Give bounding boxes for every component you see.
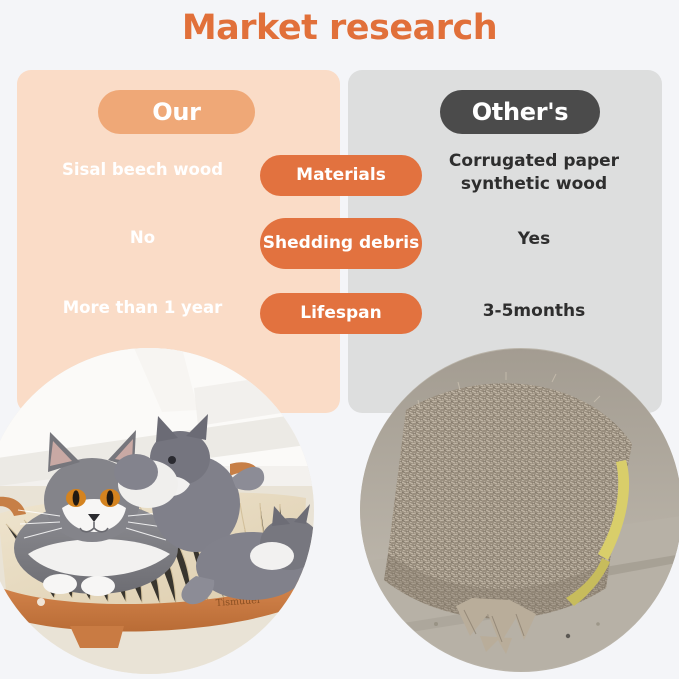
- infographic-canvas: Market research Our Other's Sisal beech …: [0, 0, 679, 679]
- feature-pill-lifespan-label: Lifespan: [300, 303, 381, 323]
- page-title: Market research: [0, 8, 679, 48]
- feature-pill-materials-label: Materials: [296, 165, 386, 185]
- feature-pill-materials: Materials: [260, 155, 422, 196]
- cats-on-sisal-scratcher-illustration: Tismuuel: [0, 348, 314, 674]
- header-pill-other-label: Other's: [472, 98, 569, 126]
- our-value-shedding-debris: No: [20, 228, 265, 249]
- other-value-shedding-debris: Yes: [420, 228, 648, 251]
- header-pill-our: Our: [98, 90, 255, 134]
- product-photo-other: [360, 348, 679, 672]
- feature-pill-shedding-debris-label: Shedding debris: [263, 233, 419, 253]
- header-pill-other: Other's: [440, 90, 600, 134]
- feature-pill-lifespan: Lifespan: [260, 293, 422, 334]
- our-value-materials: Sisal beech wood: [20, 160, 265, 181]
- worn-cardboard-scratcher-illustration: [360, 348, 679, 672]
- header-pill-our-label: Our: [152, 98, 200, 126]
- our-value-lifespan: More than 1 year: [20, 298, 265, 319]
- other-value-materials: Corrugated paper synthetic wood: [420, 150, 648, 196]
- other-value-lifespan: 3-5months: [420, 300, 648, 323]
- product-photo-our: Tismuuel: [0, 348, 314, 674]
- feature-pill-shedding-debris: Shedding debris: [260, 218, 422, 269]
